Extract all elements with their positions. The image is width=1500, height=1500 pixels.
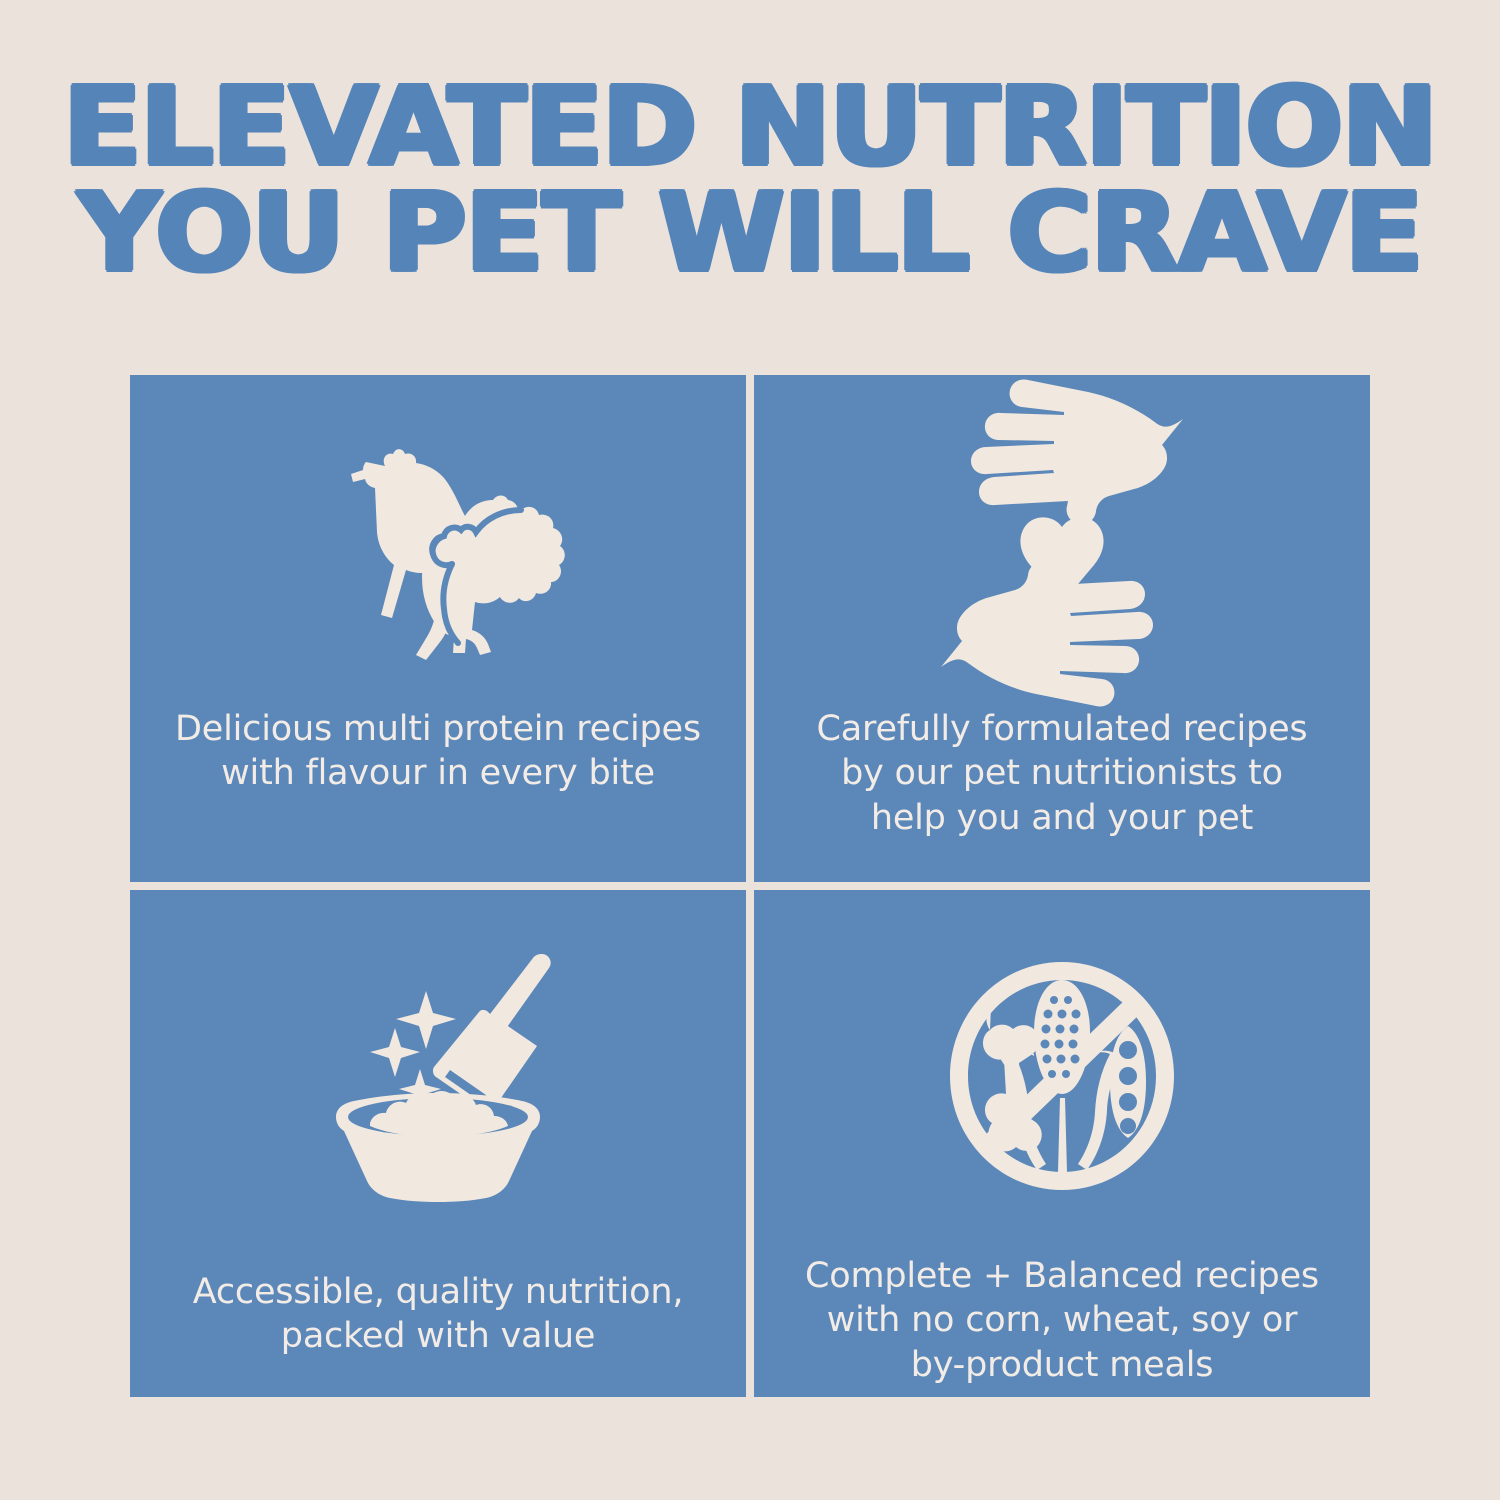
- feature-card-text: Delicious multi protein recipes with fla…: [173, 707, 703, 796]
- feature-text-line: with flavour in every bite: [173, 751, 703, 795]
- feature-card-formulated: Carefully formulated recipes by our pet …: [754, 375, 1370, 882]
- feature-card-text: Complete + Balanced recipes with no corn…: [797, 1254, 1327, 1387]
- feature-card-value: Accessible, quality nutrition, packed wi…: [130, 890, 746, 1397]
- scoop-bowl-sparkle-icon: [130, 916, 746, 1236]
- chicken-turkey-icon: [130, 393, 746, 693]
- feature-grid: Delicious multi protein recipes with fla…: [130, 375, 1370, 1397]
- feature-text-line: Accessible, quality nutrition,: [173, 1270, 703, 1314]
- feature-text-line: Complete + Balanced recipes: [797, 1254, 1327, 1298]
- feature-card-text: Accessible, quality nutrition, packed wi…: [173, 1270, 703, 1359]
- feature-text-line: help you and your pet: [797, 796, 1327, 840]
- feature-text-line: with no corn, wheat, soy or: [797, 1298, 1327, 1342]
- feature-card-multi-protein: Delicious multi protein recipes with fla…: [130, 375, 746, 882]
- page-title: ELEVATED NUTRITION YOU PET WILL CRAVE: [0, 78, 1500, 285]
- feature-text-line: packed with value: [173, 1314, 703, 1358]
- feature-card-text: Carefully formulated recipes by our pet …: [797, 707, 1327, 840]
- feature-text-line: Delicious multi protein recipes: [173, 707, 703, 751]
- feature-text-line: by our pet nutritionists to: [797, 751, 1327, 795]
- no-corn-wheat-soy-icon: [754, 916, 1370, 1236]
- feature-text-line: Carefully formulated recipes: [797, 707, 1327, 751]
- headline-line-1: ELEVATED NUTRITION: [0, 78, 1500, 178]
- feature-text-line: by-product meals: [797, 1343, 1327, 1387]
- hands-heart-icon: [754, 393, 1370, 693]
- headline-line-2: YOU PET WILL CRAVE: [0, 184, 1500, 284]
- promo-graphic: ELEVATED NUTRITION YOU PET WILL CRAVE: [0, 0, 1500, 1500]
- feature-card-no-fillers: Complete + Balanced recipes with no corn…: [754, 890, 1370, 1397]
